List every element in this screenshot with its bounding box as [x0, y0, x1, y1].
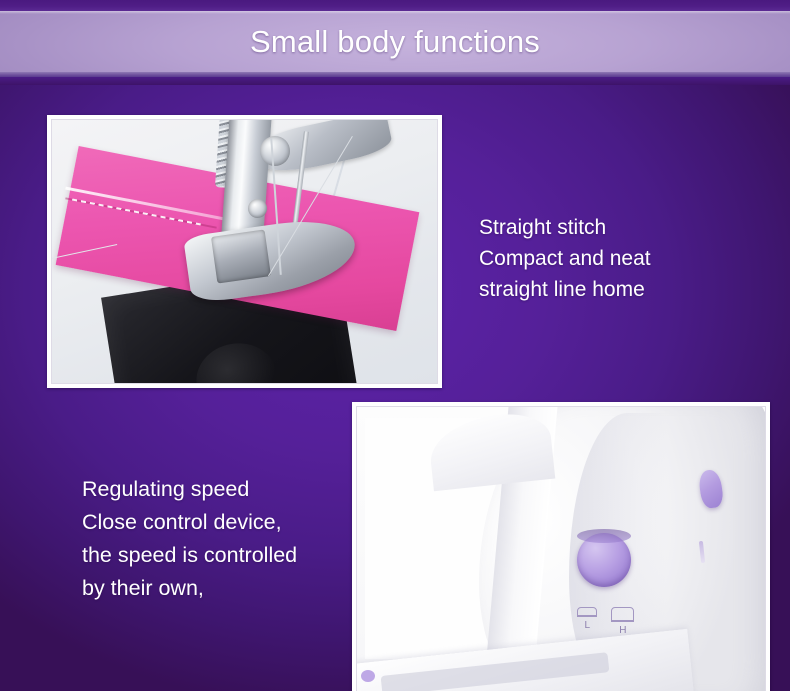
photo-inner-border	[51, 119, 438, 384]
presser-foot-box	[211, 230, 271, 284]
low-speed-icon	[577, 607, 597, 617]
banner-bottom-band	[0, 77, 790, 85]
speed-legend-high: H	[611, 607, 634, 636]
speed-legend-low: L	[577, 607, 597, 631]
speed-dial-photo: L H	[357, 407, 765, 691]
speed-dial-photo-frame: L H	[352, 402, 770, 691]
straight-stitch-caption: Straight stitch Compact and neat straigh…	[479, 212, 651, 305]
high-speed-icon	[611, 607, 634, 622]
banner-top-band	[0, 0, 790, 11]
page-title: Small body functions	[0, 11, 790, 72]
photo-inner-border: L H	[356, 406, 766, 691]
high-speed-label: H	[619, 625, 626, 636]
header-banner: Small body functions	[0, 0, 790, 85]
straight-stitch-photo	[52, 120, 437, 383]
speed-legend: L H	[577, 607, 677, 645]
speed-regulation-caption: Regulating speed Close control device, t…	[82, 473, 297, 605]
product-feature-slide: Small body functions	[0, 0, 790, 691]
straight-stitch-photo-frame	[47, 115, 442, 388]
thread-take-up-hub	[260, 136, 290, 166]
speed-dial-top-edge	[577, 529, 631, 543]
low-speed-label: L	[585, 620, 591, 631]
